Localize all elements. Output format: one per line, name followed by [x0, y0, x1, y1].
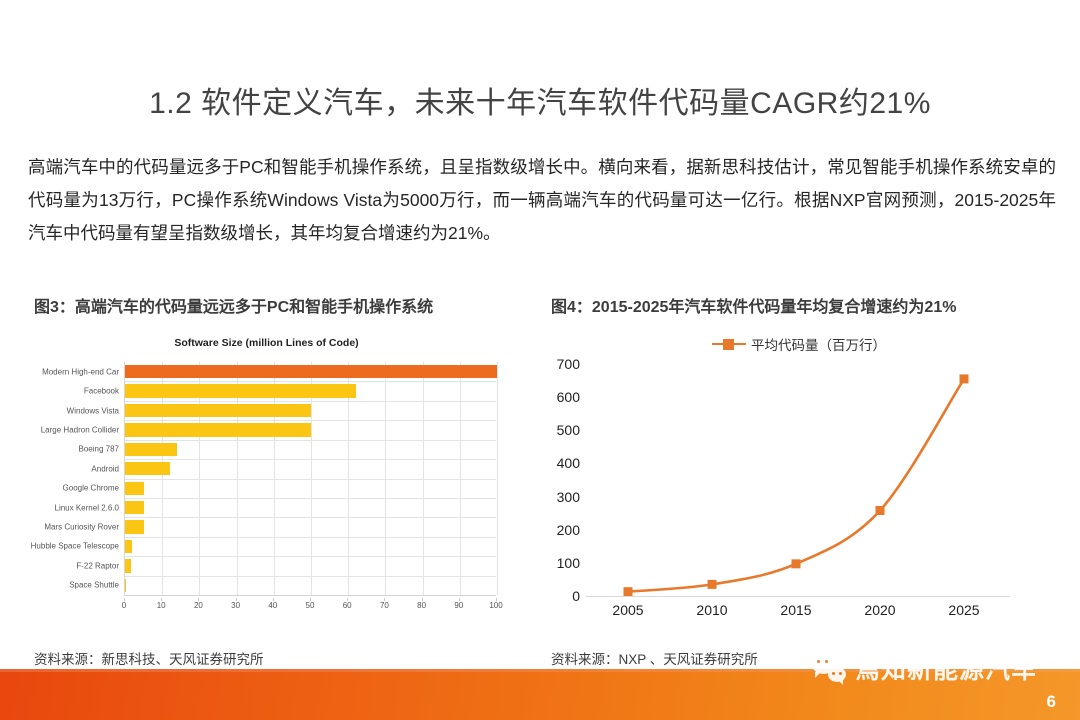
bar-chart-x-tick-label: 30	[231, 601, 240, 610]
bar-chart-x-tick-label: 60	[343, 601, 352, 610]
bar-chart-bar-fill	[125, 443, 177, 456]
bar-chart-x-tick-label: 40	[268, 601, 277, 610]
bar-chart-bar-fill	[125, 540, 132, 553]
line-chart-data-point	[708, 580, 717, 589]
bar-chart-x-tick-label: 80	[417, 601, 426, 610]
line-chart: 平均代码量（百万行） 0100200300400500600700 200520…	[532, 330, 1066, 630]
line-chart-plot-area	[586, 364, 1006, 596]
bar-chart-bar: F-22 Raptor	[125, 556, 497, 575]
line-chart-x-tick-label: 2015	[780, 602, 811, 618]
bar-chart-bar: Hubble Space Telescope	[125, 537, 497, 556]
line-chart-y-tick-label: 500	[557, 422, 580, 438]
bar-chart-x-tick-label: 50	[306, 601, 315, 610]
bar-chart-category-label: Modern High-end Car	[42, 367, 119, 376]
bar-chart-category-label: Boeing 787	[79, 445, 119, 454]
page-number: 6	[1047, 692, 1056, 712]
line-chart-x-tick-label: 2020	[864, 602, 895, 618]
bar-chart-category-label: Android	[91, 464, 119, 473]
bar-chart-bar-fill	[125, 365, 497, 378]
line-chart-x-axis-line	[586, 596, 1010, 597]
bar-chart-bar: Windows Vista	[125, 401, 497, 420]
bar-chart-category-label: F-22 Raptor	[76, 561, 119, 570]
line-chart-x-ticks: 20052010201520202025	[586, 600, 1006, 622]
bar-chart-title: Software Size (million Lines of Code)	[14, 337, 519, 349]
source-note-left: 资料来源：新思科技、天风证券研究所	[34, 648, 264, 668]
bar-chart-bar-fill	[125, 462, 170, 475]
bar-chart-plot-area: Modern High-end CarFacebookWindows Vista…	[124, 362, 496, 595]
bar-chart-bar: Space Shuttle	[125, 576, 497, 595]
bar-chart-x-tick-label: 0	[122, 601, 126, 610]
bar-chart-category-label: Google Chrome	[63, 484, 119, 493]
bar-chart-bar: Android	[125, 459, 497, 478]
line-chart-y-tick-label: 100	[557, 555, 580, 571]
bar-chart-bar: Boeing 787	[125, 440, 497, 459]
bar-chart-bar-fill	[125, 501, 144, 514]
bar-chart-x-tick-label: 20	[194, 601, 203, 610]
source-note-right: 资料来源：NXP 、天风证券研究所	[551, 648, 758, 668]
line-chart-y-tick-label: 700	[557, 356, 580, 372]
bar-chart: Software Size (million Lines of Code) Mo…	[14, 332, 519, 632]
line-chart-data-point	[792, 559, 801, 568]
bar-chart-bar-fill	[125, 520, 144, 533]
line-chart-series-svg	[586, 364, 1006, 596]
bar-chart-x-tick-label: 70	[380, 601, 389, 610]
bar-chart-bar-fill	[125, 559, 131, 572]
bar-chart-x-tick-label: 10	[157, 601, 166, 610]
bar-chart-bar-fill	[125, 404, 311, 417]
line-chart-y-ticks: 0100200300400500600700	[532, 364, 580, 596]
bar-chart-bar-fill	[125, 579, 126, 592]
body-paragraph: 高端汽车中的代码量远多于PC和智能手机操作系统，且呈指数级增长中。横向来看，据新…	[28, 151, 1056, 250]
bar-chart-category-label: Space Shuttle	[69, 581, 119, 590]
line-chart-y-tick-label: 400	[557, 455, 580, 471]
bar-chart-category-label: Hubble Space Telescope	[31, 542, 119, 551]
bar-chart-category-label: Mars Curiosity Rover	[44, 523, 119, 532]
bar-chart-bar: Linux Kernel 2.6.0	[125, 498, 497, 517]
page-title: 1.2 软件定义汽车，未来十年汽车软件代码量CAGR约21%	[0, 78, 1080, 122]
line-chart-x-tick-label: 2025	[948, 602, 979, 618]
bar-chart-x-tick-label: 90	[454, 601, 463, 610]
line-chart-y-tick-label: 0	[572, 588, 580, 604]
legend-marker-icon	[712, 338, 746, 350]
bar-chart-bar-fill	[125, 423, 311, 436]
line-chart-x-tick-label: 2005	[612, 602, 643, 618]
bar-chart-bar: Mars Curiosity Rover	[125, 517, 497, 536]
figure-caption-left: 图3：高端汽车的代码量远远多于PC和智能手机操作系统	[34, 293, 433, 317]
bar-chart-category-label: Linux Kernel 2.6.0	[55, 503, 120, 512]
bar-chart-bar-fill	[125, 384, 356, 397]
bar-chart-bar: Google Chrome	[125, 479, 497, 498]
line-chart-data-point	[624, 587, 633, 596]
bar-chart-bar: Large Hadron Collider	[125, 420, 497, 439]
bar-chart-x-tick-label: 100	[489, 601, 502, 610]
line-chart-x-tick-label: 2010	[696, 602, 727, 618]
line-chart-legend: 平均代码量（百万行）	[532, 334, 1066, 354]
bar-chart-category-label: Large Hadron Collider	[41, 425, 119, 434]
line-chart-y-tick-label: 600	[557, 389, 580, 405]
bar-chart-x-axis-line	[124, 595, 496, 596]
line-chart-legend-label: 平均代码量（百万行）	[751, 334, 886, 354]
bar-chart-bar-fill	[125, 482, 144, 495]
bar-chart-x-ticks: 0102030405060708090100	[124, 598, 496, 614]
bar-chart-bar: Facebook	[125, 381, 497, 400]
line-chart-data-point	[960, 374, 969, 383]
bar-chart-category-label: Facebook	[84, 387, 119, 396]
line-chart-y-tick-label: 200	[557, 522, 580, 538]
bar-chart-bar: Modern High-end Car	[125, 362, 497, 381]
line-chart-data-point	[876, 506, 885, 515]
line-chart-y-tick-label: 300	[557, 489, 580, 505]
figure-caption-right: 图4：2015-2025年汽车软件代码量年均复合增速约为21%	[551, 293, 956, 317]
bar-chart-category-label: Windows Vista	[67, 406, 119, 415]
bottom-banner: 6	[0, 672, 1080, 720]
